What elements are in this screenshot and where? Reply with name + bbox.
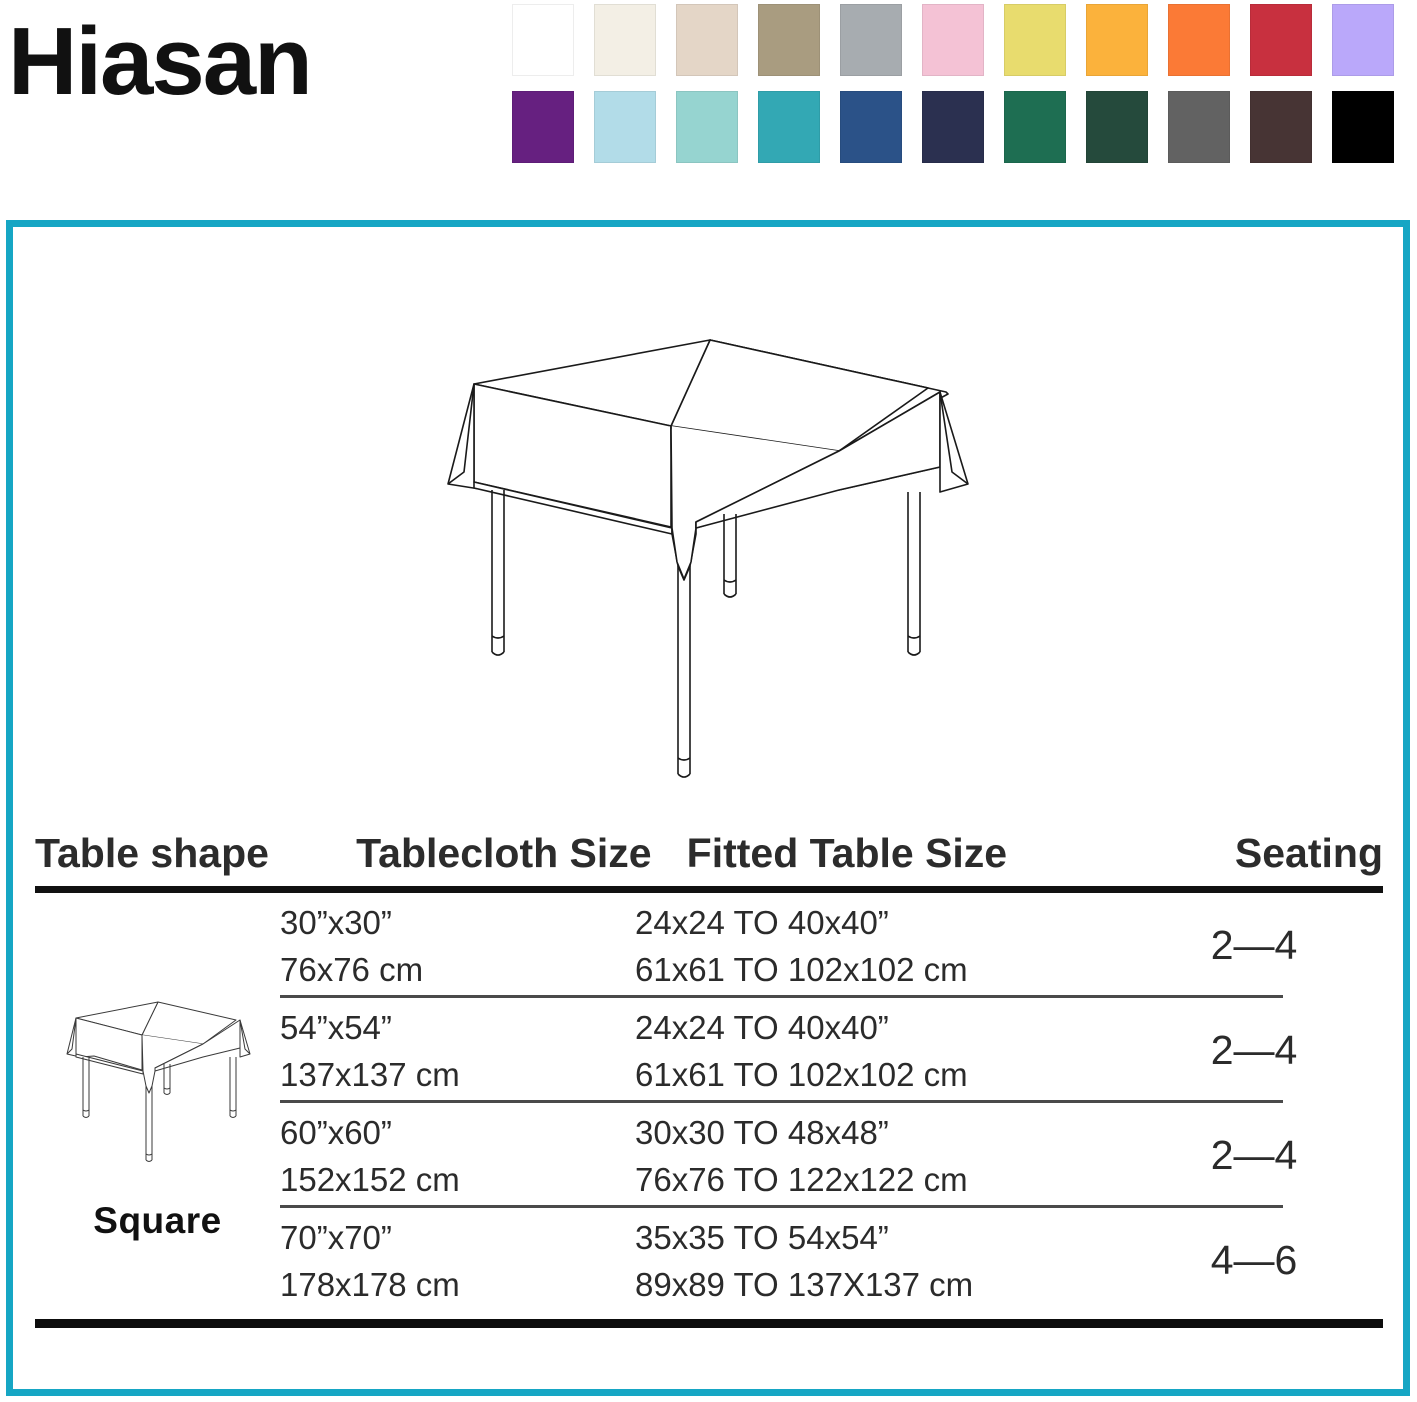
column-header-tablecloth-size: Tablecloth Size — [356, 833, 686, 874]
color-swatch-grid — [512, 4, 1412, 178]
value-cm: 89x89 TO 137X137 cm — [635, 1268, 1125, 1301]
cell-seating: 2—4 — [1125, 1135, 1383, 1176]
value-inches: 35x35 TO 54x54” — [635, 1221, 1125, 1254]
value-cm: 137x137 cm — [280, 1058, 635, 1091]
table-shape-label: Square — [93, 1200, 221, 1242]
cell-tablecloth-size: 54”x54” 137x137 cm — [280, 1011, 635, 1091]
color-swatch-navy-blue[interactable] — [840, 91, 902, 163]
swatch-row-2 — [512, 91, 1412, 163]
value-inches: 30”x30” — [280, 906, 635, 939]
color-swatch-cream[interactable] — [594, 4, 656, 76]
color-swatch-aqua[interactable] — [676, 91, 738, 163]
cell-fitted-table-size: 30x30 TO 48x48” 76x76 TO 122x122 cm — [635, 1116, 1125, 1196]
color-swatch-purple[interactable] — [512, 91, 574, 163]
table-row: 30”x30” 76x76 cm 24x24 TO 40x40” 61x61 T… — [280, 893, 1383, 998]
color-swatch-amber[interactable] — [1086, 4, 1148, 76]
swatch-row-1 — [512, 4, 1412, 76]
color-swatch-red[interactable] — [1250, 4, 1312, 76]
table-shape-cell: Square — [35, 893, 280, 1313]
square-table-with-tablecloth-icon — [428, 322, 988, 792]
value-seating: 2—4 — [1125, 1030, 1383, 1071]
cell-seating: 4—6 — [1125, 1240, 1383, 1281]
square-table-thumbnail-icon — [60, 994, 256, 1174]
value-seating: 2—4 — [1125, 1135, 1383, 1176]
column-header-seating: Seating — [1143, 833, 1383, 874]
column-header-table-shape: Table shape — [35, 833, 356, 874]
cell-seating: 2—4 — [1125, 1030, 1383, 1071]
color-swatch-taupe[interactable] — [758, 4, 820, 76]
header-divider — [35, 886, 1383, 893]
column-header-fitted-table-size: Fitted Table Size — [687, 833, 1143, 874]
value-cm: 61x61 TO 102x102 cm — [635, 953, 1125, 986]
value-seating: 2—4 — [1125, 925, 1383, 966]
value-inches: 54”x54” — [280, 1011, 635, 1044]
color-swatch-white[interactable] — [512, 4, 574, 76]
color-swatch-pink[interactable] — [922, 4, 984, 76]
product-infographic: Hiasan — [0, 0, 1417, 1402]
color-swatch-lavender[interactable] — [1332, 4, 1394, 76]
color-swatch-orange[interactable] — [1168, 4, 1230, 76]
color-swatch-teal[interactable] — [758, 91, 820, 163]
table-row: 60”x60” 152x152 cm 30x30 TO 48x48” 76x76… — [280, 1103, 1383, 1208]
table-row: 70”x70” 178x178 cm 35x35 TO 54x54” 89x89… — [280, 1208, 1383, 1313]
value-cm: 76x76 cm — [280, 953, 635, 986]
color-swatch-charcoal[interactable] — [1168, 91, 1230, 163]
value-cm: 76x76 TO 122x122 cm — [635, 1163, 1125, 1196]
value-seating: 4—6 — [1125, 1240, 1383, 1281]
table-bottom-divider — [35, 1319, 1383, 1328]
value-inches: 70”x70” — [280, 1221, 635, 1254]
cell-tablecloth-size: 60”x60” 152x152 cm — [280, 1116, 635, 1196]
value-cm: 61x61 TO 102x102 cm — [635, 1058, 1125, 1091]
table-body: Square 30”x30” 76x76 cm 24x24 TO 40x40” … — [35, 893, 1383, 1313]
color-swatch-dark-navy[interactable] — [922, 91, 984, 163]
table-row: 54”x54” 137x137 cm 24x24 TO 40x40” 61x61… — [280, 998, 1383, 1103]
spec-rows: 30”x30” 76x76 cm 24x24 TO 40x40” 61x61 T… — [280, 893, 1383, 1313]
cell-tablecloth-size: 70”x70” 178x178 cm — [280, 1221, 635, 1301]
color-swatch-dark-brown[interactable] — [1250, 91, 1312, 163]
cell-fitted-table-size: 24x24 TO 40x40” 61x61 TO 102x102 cm — [635, 906, 1125, 986]
color-swatch-beige[interactable] — [676, 4, 738, 76]
content-panel: Table shape Tablecloth Size Fitted Table… — [6, 220, 1410, 1396]
cell-seating: 2—4 — [1125, 925, 1383, 966]
hero-illustration — [13, 322, 1403, 792]
header: Hiasan — [0, 0, 1417, 185]
color-swatch-yellow[interactable] — [1004, 4, 1066, 76]
value-cm: 178x178 cm — [280, 1268, 635, 1301]
value-inches: 24x24 TO 40x40” — [635, 1011, 1125, 1044]
value-cm: 152x152 cm — [280, 1163, 635, 1196]
color-swatch-black[interactable] — [1332, 91, 1394, 163]
cell-tablecloth-size: 30”x30” 76x76 cm — [280, 906, 635, 986]
brand-logo: Hiasan — [8, 14, 311, 110]
color-swatch-light-blue[interactable] — [594, 91, 656, 163]
value-inches: 60”x60” — [280, 1116, 635, 1149]
color-swatch-gray[interactable] — [840, 4, 902, 76]
size-spec-table: Table shape Tablecloth Size Fitted Table… — [35, 812, 1383, 1328]
color-swatch-dark-green[interactable] — [1086, 91, 1148, 163]
value-inches: 30x30 TO 48x48” — [635, 1116, 1125, 1149]
value-inches: 24x24 TO 40x40” — [635, 906, 1125, 939]
cell-fitted-table-size: 35x35 TO 54x54” 89x89 TO 137X137 cm — [635, 1221, 1125, 1301]
color-swatch-green[interactable] — [1004, 91, 1066, 163]
table-header-row: Table shape Tablecloth Size Fitted Table… — [35, 812, 1383, 874]
cell-fitted-table-size: 24x24 TO 40x40” 61x61 TO 102x102 cm — [635, 1011, 1125, 1091]
